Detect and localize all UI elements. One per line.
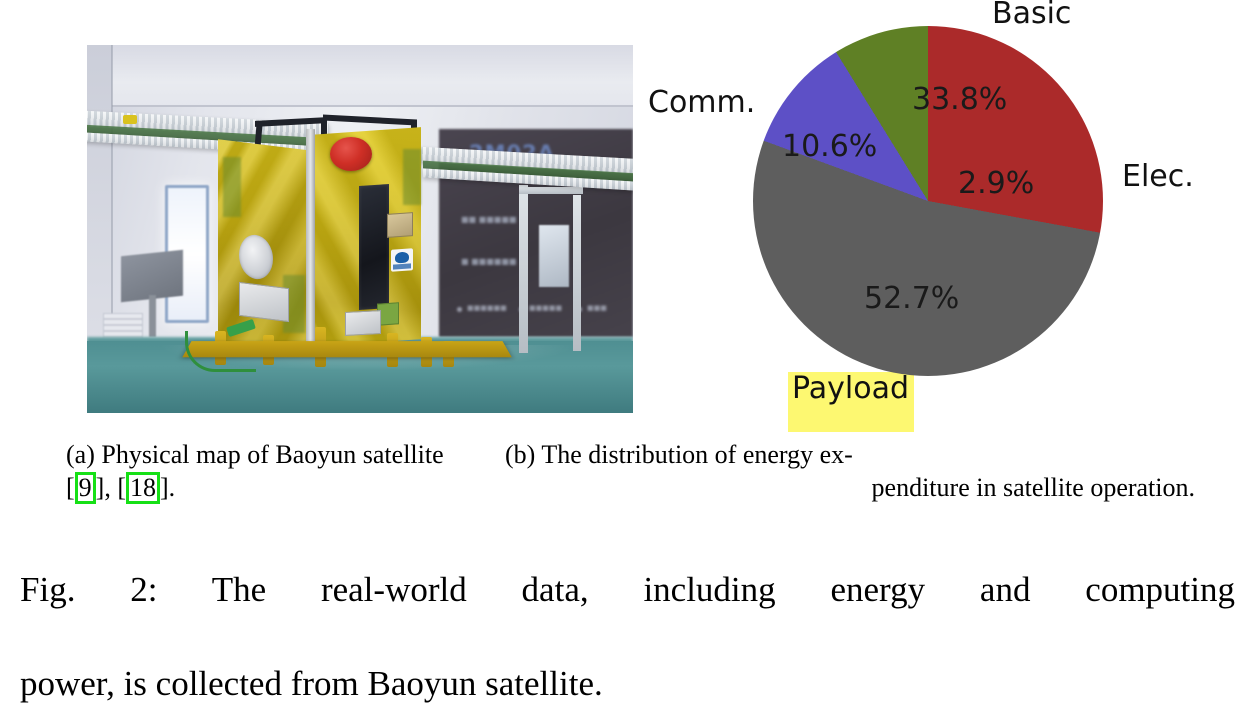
pie-label-basic: Basic [992,0,1071,31]
support-frame-post-far-right [573,195,581,351]
figure-caption: Fig. 2: The real-world data, including e… [20,566,1235,707]
support-frame-post-right [519,185,528,353]
signage-board-icon-row: ■■■■■■ ■■■■■ ■■■ [453,303,633,319]
wall-corner-seam [111,45,113,345]
equipment-box-tan [387,212,413,238]
pie-label-comm: Comm. [648,85,755,120]
equipment-box-left [239,282,289,322]
subcaption-a-bracket-mid: ], [ [96,473,126,502]
citation-9[interactable]: 9 [75,472,96,504]
subcaption-b: (b) The distribution of energy ex- pendi… [505,438,1195,504]
wall-seam [87,105,633,107]
background-monitor-stand [149,295,156,337]
figure-caption-line1: Fig. 2: The real-world data, including e… [20,566,1235,660]
pie-value-elec: 2.9% [958,166,1034,201]
foil-green-patch-1 [223,157,241,217]
subcaption-a-bracket-close: ]. [160,473,175,502]
citation-18[interactable]: 18 [126,472,160,504]
antenna-dome-red [330,137,372,171]
pie-disc [753,26,1103,376]
pie-label-elec: Elec. [1122,159,1194,194]
figure-caption-line2: power, is collected from Baoyun satellit… [20,660,1235,707]
subcaption-b-line1: (b) The distribution of energy ex- [505,440,853,469]
energy-distribution-pie-chart: 33.8% 10.6% 52.7% 2.9% Basic Comm. Paylo… [640,0,1250,430]
support-frame-bag [539,225,569,287]
subcaption-b-line2: penditure in satellite operation. [505,471,1195,504]
instrument-panel-black [359,184,389,310]
wall-left-panel [87,45,112,345]
foil-green-patch-3 [403,149,421,205]
subcaption-a: (a) Physical map of Baoyun satellite [9]… [66,438,566,504]
pie-label-payload: Payload [792,371,909,406]
subcaption-a-line1: (a) Physical map of Baoyun satellite [66,440,444,469]
support-frame-crossbar [519,187,583,194]
figure-page: 2M02A ■■ ■■■■■ ■ ■■■■■■ ■■■■■■ ■■■■■ ■■■ [0,0,1250,690]
satellite-photograph: 2M02A ■■ ■■■■■ ■ ■■■■■■ ■■■■■■ ■■■■■ ■■■ [87,45,633,413]
cleanroom-ceiling-panel [87,45,633,107]
subcaption-a-bracket-open: [ [66,473,75,502]
pie-value-comm: 10.6% [782,129,877,164]
pie-value-payload: 52.7% [864,281,959,316]
solar-array-left-fitting [123,115,137,124]
subcaption-a-line2: [9], [18]. [66,471,566,504]
pie-value-basic: 33.8% [912,82,1007,117]
agency-logo [391,248,413,272]
equipment-box-bottom [345,310,381,336]
satellite-corner-rail [306,129,315,349]
